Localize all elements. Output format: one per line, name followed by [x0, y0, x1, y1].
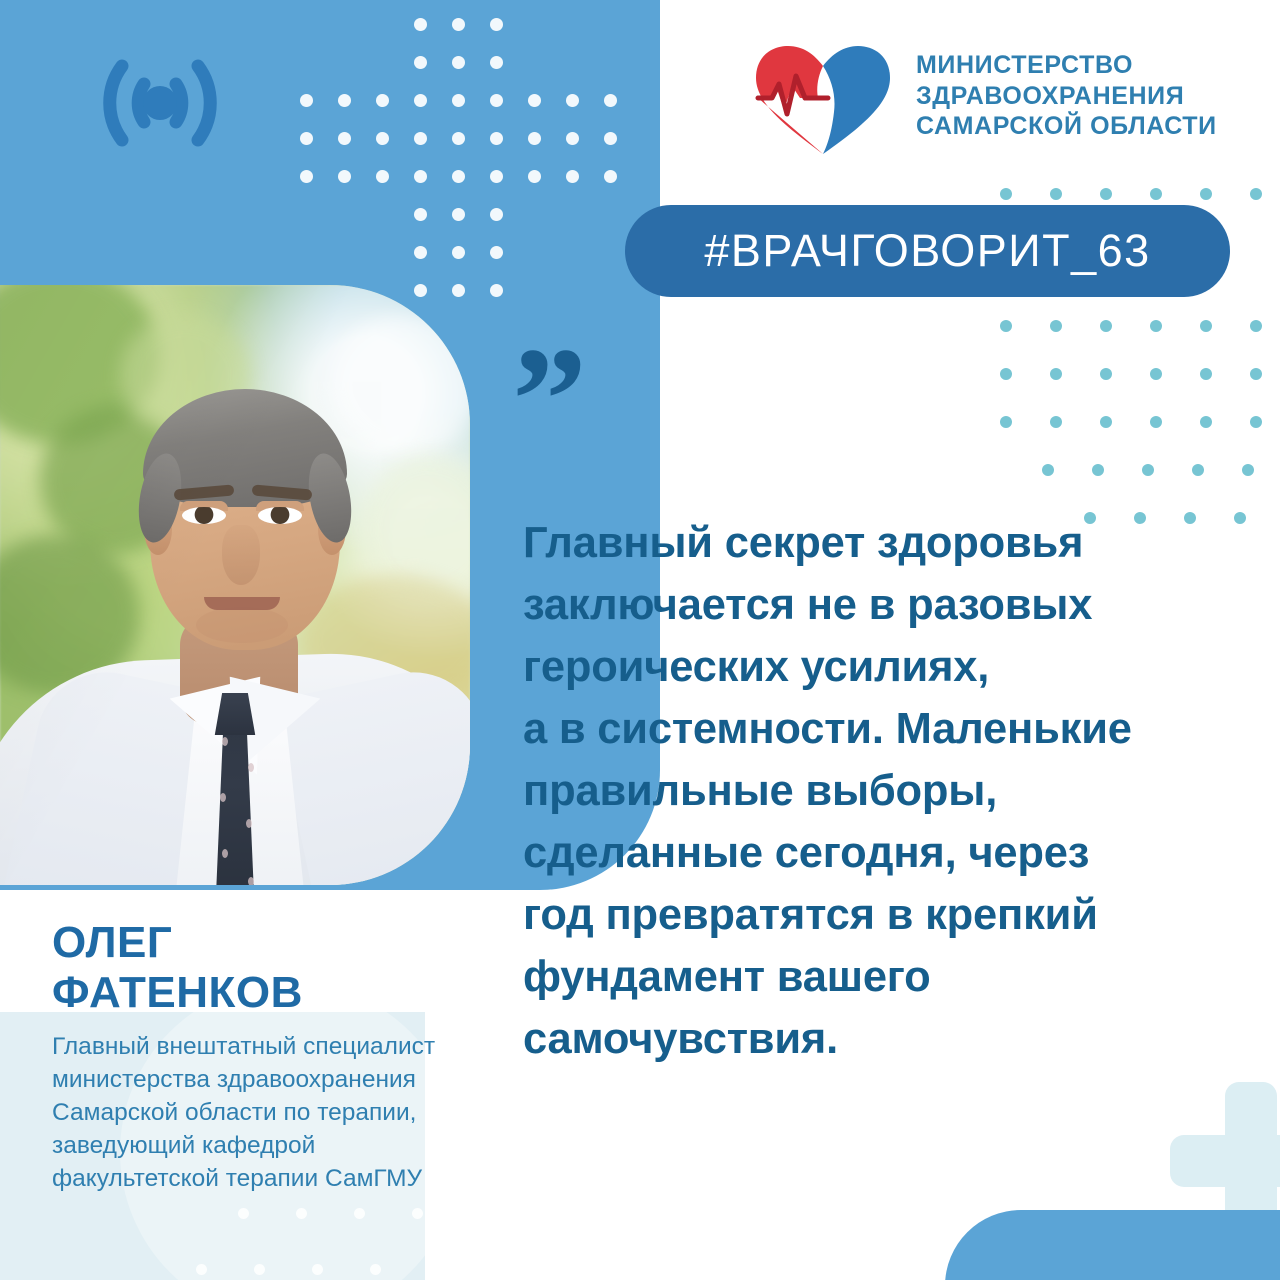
quote-line: год превратятся в крепкий [523, 884, 1233, 946]
ministry-logo-text: МИНИСТЕРСТВО ЗДРАВООХРАНЕНИЯ САМАРСКОЙ О… [916, 50, 1217, 142]
broadcast-waves-icon [60, 38, 260, 168]
bio-line: Главный внештатный специалист [52, 1030, 522, 1063]
quote-line: фундамент вашего [523, 946, 1233, 1008]
quote-line: Главный секрет здоровья [523, 512, 1233, 574]
bio-line: заведующий кафедрой [52, 1129, 522, 1162]
bio-line: факультетской терапии СамГМУ [52, 1162, 522, 1195]
hashtag-label: #ВРАЧГОВОРИТ_63 [704, 225, 1150, 277]
quote-mark-icon: ” [512, 355, 587, 445]
quote-text: Главный секрет здоровьязаключается не в … [523, 512, 1233, 1070]
hashtag-banner: #ВРАЧГОВОРИТ_63 [625, 205, 1230, 297]
dotted-plus-pattern [300, 0, 580, 230]
quote-line: заключается не в разовых [523, 574, 1233, 636]
speaker-last-name: ФАТЕНКОВ [52, 968, 482, 1018]
heart-ecg-icon [748, 36, 898, 158]
quote-line: а в системности. Маленькие [523, 698, 1233, 760]
speaker-name: ОЛЕГ ФАТЕНКОВ [52, 918, 482, 1018]
quote-line: героических усилиях, [523, 636, 1233, 698]
quote-line: самочувствия. [523, 1008, 1233, 1070]
speaker-bio: Главный внештатный специалистминистерств… [52, 1030, 522, 1195]
speaker-photo [0, 285, 470, 885]
poster-canvas: ОЛЕГ ФАТЕНКОВ Главный внештатный специал… [0, 0, 1280, 1280]
logo-line-3: САМАРСКОЙ ОБЛАСТИ [916, 111, 1217, 142]
ministry-logo: МИНИСТЕРСТВО ЗДРАВООХРАНЕНИЯ САМАРСКОЙ О… [748, 36, 1228, 161]
logo-line-2: ЗДРАВООХРАНЕНИЯ [916, 81, 1217, 112]
bio-line: министерства здравоохранения [52, 1063, 522, 1096]
logo-line-1: МИНИСТЕРСТВО [916, 50, 1217, 81]
quote-line: сделанные сегодня, через [523, 822, 1233, 884]
bottom-accent-bar [945, 1210, 1280, 1280]
quote-line: правильные выборы, [523, 760, 1233, 822]
bio-line: Самарской области по терапии, [52, 1096, 522, 1129]
speaker-first-name: ОЛЕГ [52, 918, 172, 967]
